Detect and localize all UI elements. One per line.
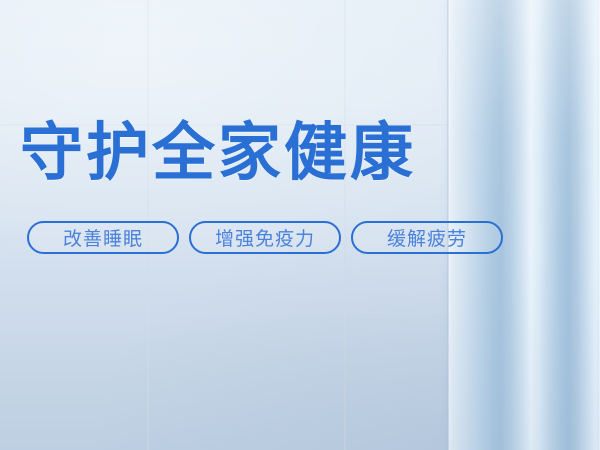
poster-content: 守护全家健康 改善睡眠 增强免疫力 缓解疲劳 xyxy=(0,0,600,450)
benefit-tag-relieve-fatigue: 缓解疲劳 xyxy=(351,221,503,254)
benefit-tag-row: 改善睡眠 增强免疫力 缓解疲劳 xyxy=(27,221,503,254)
benefit-tag-improve-sleep: 改善睡眠 xyxy=(27,221,179,254)
poster-headline: 守护全家健康 xyxy=(20,120,416,187)
promo-poster: 守护全家健康 改善睡眠 增强免疫力 缓解疲劳 xyxy=(0,0,600,450)
benefit-tag-boost-immunity: 增强免疫力 xyxy=(189,221,341,254)
